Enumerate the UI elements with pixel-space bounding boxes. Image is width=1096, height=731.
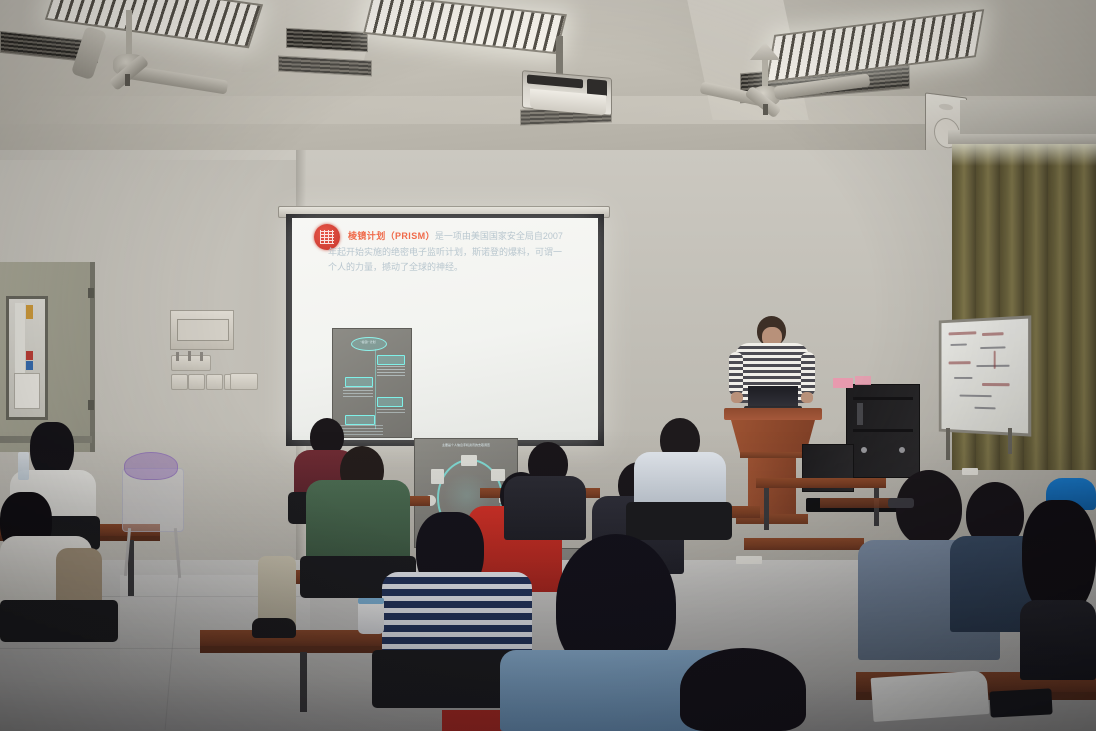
- ceiling-fan-pole-left: [126, 10, 132, 58]
- front-table-leg: [764, 488, 769, 530]
- ceramic-mug[interactable]: [358, 600, 384, 634]
- slide-panel-tree: "棱镜" 计划: [332, 328, 412, 438]
- ceiling-fan-stem-right: [763, 104, 768, 115]
- front-table: [756, 478, 886, 488]
- paper-scrap: [736, 556, 762, 564]
- presenter-hand-left: [731, 392, 743, 403]
- projection-screen: 棱镜计划（PRISM）是一项由美国国家安全局自2007 年起开始实施的绝密电子监…: [292, 218, 598, 440]
- door-hinge: [88, 400, 94, 410]
- slide-title-line: 棱镜计划（PRISM）是一项由美国国家安全局自2007: [348, 230, 588, 243]
- power-outlet[interactable]: [171, 374, 188, 390]
- mug-rim: [358, 598, 384, 604]
- electrical-panel: [170, 310, 234, 350]
- power-outlet[interactable]: [188, 374, 205, 390]
- eyeglasses: [888, 498, 914, 508]
- slide-panel-cycle-caption: 主要是个人信息手机资讯的支取调查: [421, 443, 511, 447]
- desk-row-right-3: [744, 538, 864, 550]
- slide-body-line-2: 年起开始实施的绝密电子监听计划，斯诺登的爆料，可谓一: [328, 246, 588, 259]
- projector-mount-pole: [556, 36, 563, 78]
- lecture-hall-photo: 棱镜计划（PRISM）是一项由美国国家安全局自2007 年起开始实施的绝密电子监…: [0, 0, 1096, 731]
- light-switch-bank[interactable]: [171, 355, 211, 371]
- plastic-chair-back: [124, 452, 178, 480]
- pink-note: [855, 376, 871, 385]
- student-torso-dark: [504, 476, 586, 540]
- laptop-screen: [748, 386, 798, 408]
- whiteboard-leg: [1008, 428, 1012, 454]
- podium-top: [724, 408, 822, 420]
- mobile-phone[interactable]: [989, 688, 1052, 717]
- whiteboard: [939, 315, 1031, 436]
- ceiling-fan-stem-left: [125, 74, 130, 86]
- window-header-wall: [960, 100, 1096, 134]
- power-outlet[interactable]: [206, 374, 223, 390]
- student-torso-green: [306, 480, 410, 568]
- presenter-hand-right: [801, 392, 813, 403]
- presenter-arm-left: [729, 352, 743, 396]
- water-bottle[interactable]: [18, 452, 29, 480]
- blank-plate: [230, 373, 258, 390]
- attendee-torso-dark: [1020, 600, 1096, 680]
- slide-title-highlight: 棱镜计划（PRISM）: [348, 231, 435, 241]
- slide-body-line-3: 个人的力量，撼动了全球的神经。: [328, 261, 588, 274]
- av-equipment-rack: [846, 384, 920, 478]
- attendee-head: [896, 470, 962, 546]
- notebook-paper[interactable]: [871, 670, 990, 722]
- chair-back: [626, 502, 732, 540]
- shoe: [252, 618, 296, 638]
- whiteboard-leg: [946, 428, 950, 460]
- pink-note: [833, 378, 853, 388]
- door-hinge: [88, 288, 94, 298]
- foreground-head-right: [680, 648, 806, 731]
- slide-title-rest: 是一项由美国国家安全局自2007: [435, 231, 563, 241]
- desk-leg: [300, 652, 307, 712]
- slide-panel-tree-caption: "棱镜" 计划: [351, 340, 385, 344]
- paper-scrap: [962, 468, 978, 475]
- presenter-arm-right: [801, 352, 815, 396]
- student-shoulder-tan: [56, 548, 102, 604]
- red-book[interactable]: [442, 710, 508, 731]
- air-vent-center-left: [286, 28, 368, 52]
- chair-back: [0, 600, 118, 642]
